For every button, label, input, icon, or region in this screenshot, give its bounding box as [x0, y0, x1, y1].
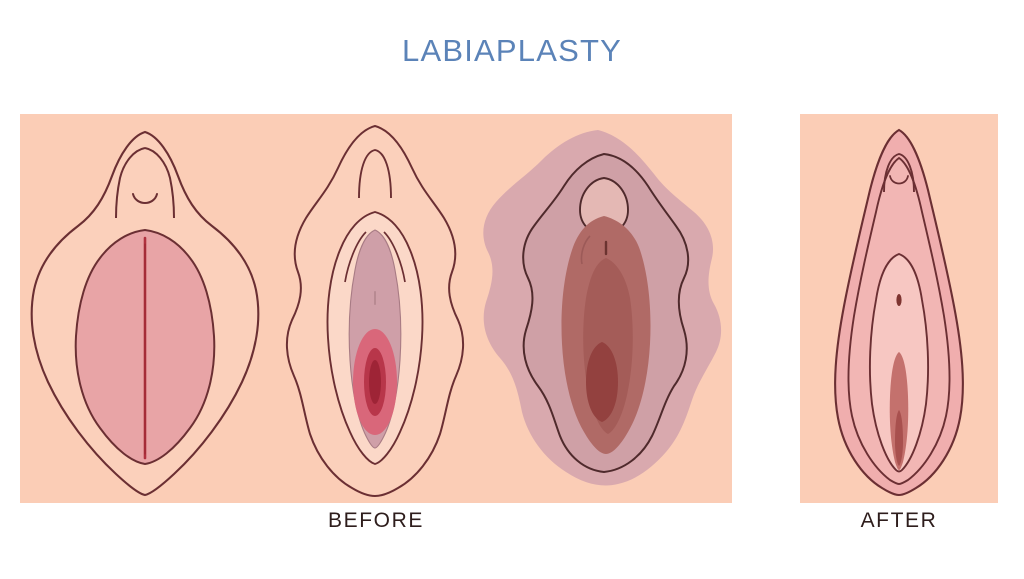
vaginal-opening-inner [369, 360, 381, 404]
page-title: LABIAPLASTY [0, 33, 1024, 69]
after-panel [800, 114, 998, 503]
caption-before: BEFORE [20, 509, 732, 533]
figure-enlarged-labia [470, 114, 732, 503]
figure-wide-labia [20, 114, 270, 503]
figure-elongated-labia [260, 114, 490, 503]
urethral-opening [896, 294, 901, 306]
caption-after: AFTER [800, 509, 998, 533]
before-panel [20, 114, 732, 503]
figure-corrected-labia [800, 114, 998, 503]
illustration-root: LABIAPLASTY [0, 0, 1024, 579]
